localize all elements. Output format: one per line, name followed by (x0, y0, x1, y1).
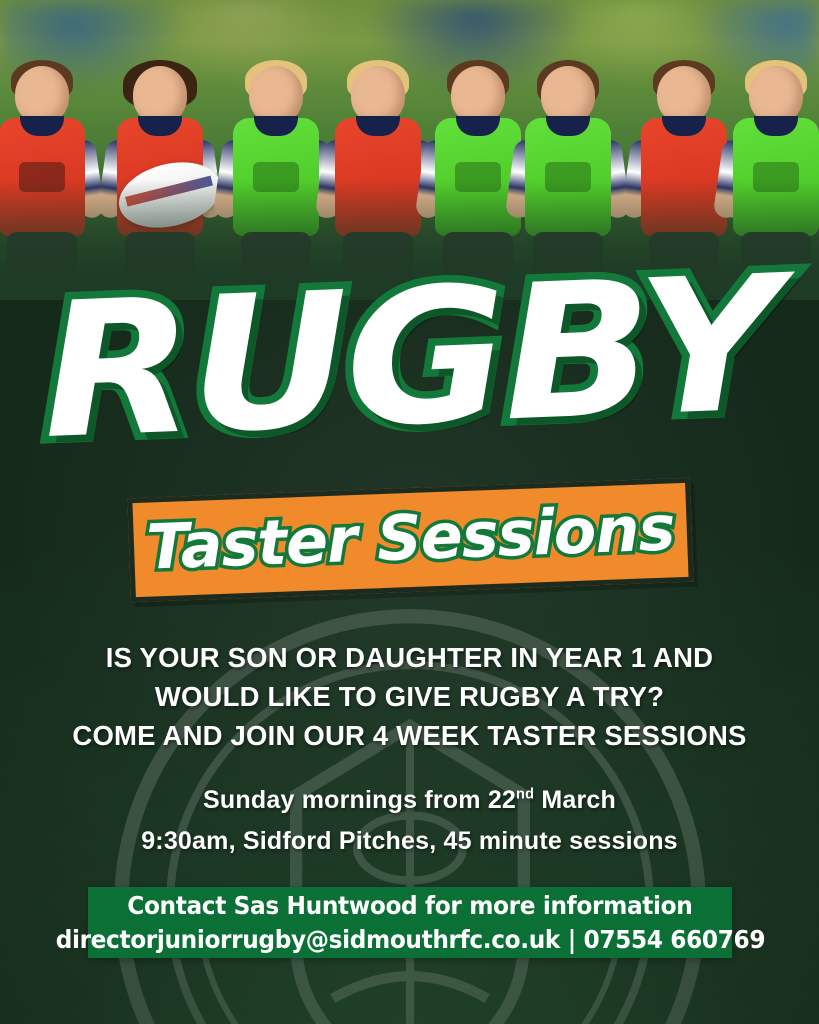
details-date-prefix: Sunday mornings from 22 (203, 786, 516, 814)
details-date-ordinal: nd (516, 787, 534, 803)
details-line-date: Sunday mornings from 22nd March (0, 780, 819, 821)
blurb-line-3: COME AND JOIN OUR 4 WEEK TASTER SESSIONS (0, 716, 819, 755)
poster-blurb: IS YOUR SON OR DAUGHTER IN YEAR 1 AND WO… (0, 638, 819, 755)
contact-email-phone-line: directorjuniorrugby@sidmouthrfc.co.uk | … (55, 923, 764, 957)
rugby-taster-sessions-poster: SIDMOUTH R (0, 0, 819, 1024)
taster-sessions-ribbon: Taster Sessions (127, 478, 693, 603)
details-line-venue: 9:30am, Sidford Pitches, 45 minute sessi… (0, 821, 819, 862)
blurb-line-1: IS YOUR SON OR DAUGHTER IN YEAR 1 AND (0, 638, 819, 677)
details-date-suffix: March (534, 786, 616, 814)
session-details: Sunday mornings from 22nd March 9:30am, … (0, 780, 819, 862)
contact-person-line: Contact Sas Huntwood for more informatio… (127, 889, 692, 923)
contact-banner: Contact Sas Huntwood for more informatio… (88, 887, 732, 958)
blurb-line-2: WOULD LIKE TO GIVE RUGBY A TRY? (0, 677, 819, 716)
subtitle-text: Taster Sessions (145, 497, 675, 578)
poster-headline: RUGBY (0, 256, 819, 458)
headline-text: RUGBY (39, 258, 780, 457)
